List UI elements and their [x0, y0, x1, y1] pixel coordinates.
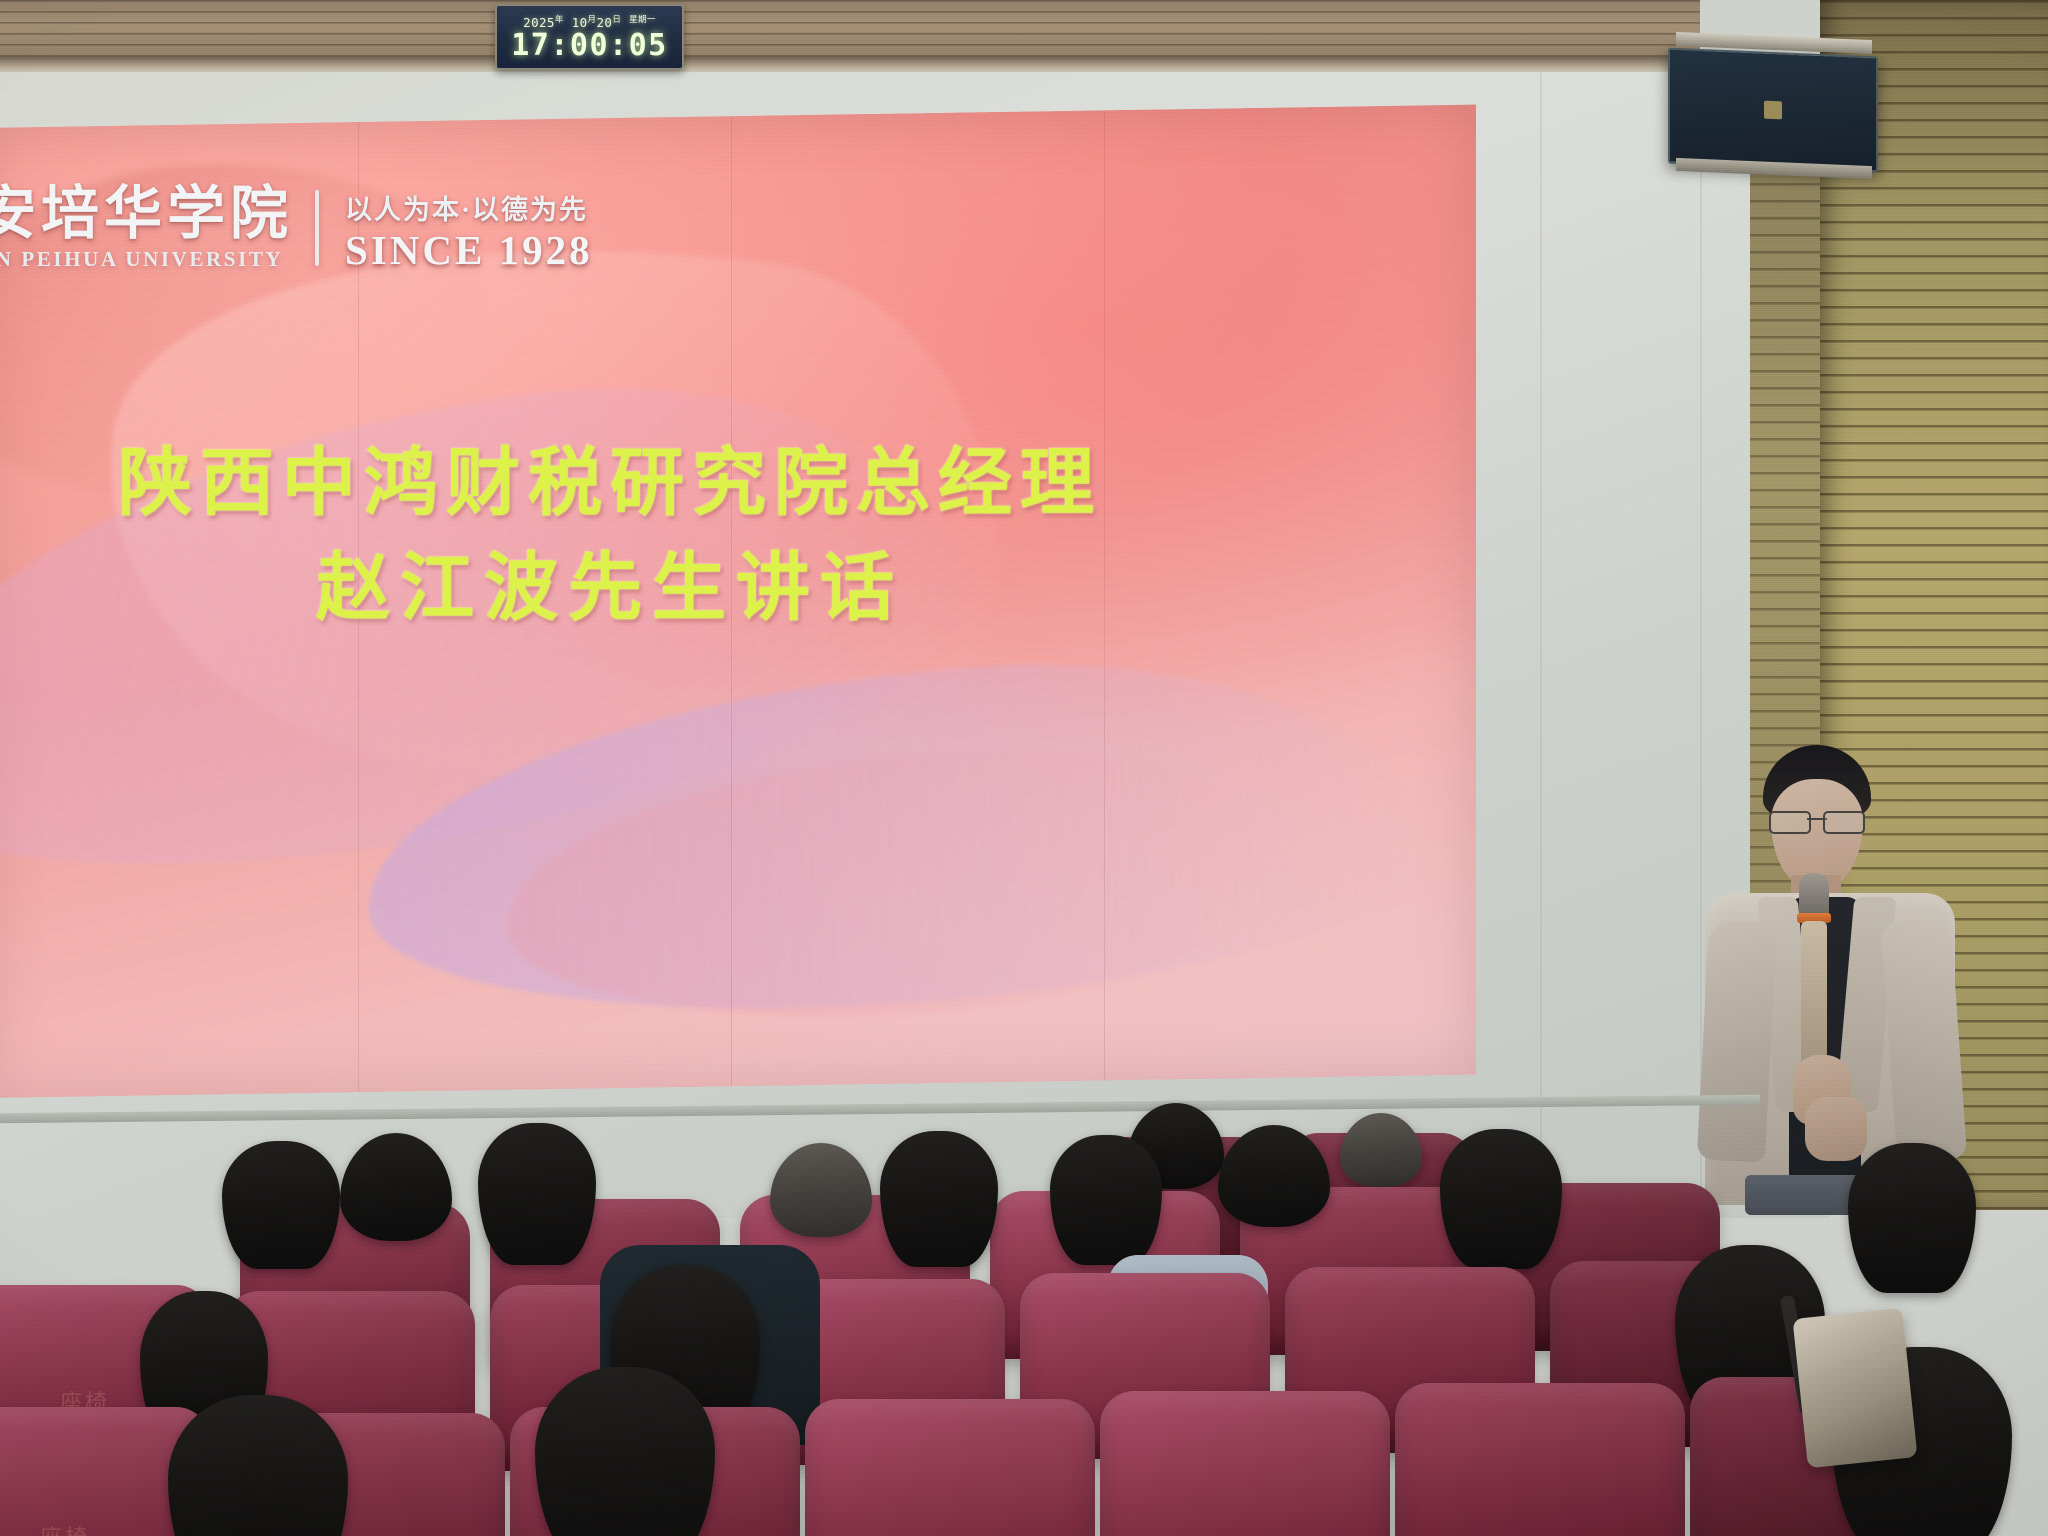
clock-weekday: 星期一 [629, 15, 656, 25]
clock-year-unit: 年 [555, 15, 564, 25]
slide-shape-4 [357, 634, 1435, 1044]
audience-head [1050, 1135, 1162, 1265]
audience-head [222, 1141, 340, 1269]
glasses-lens-right [1823, 811, 1865, 834]
microphone-icon [1799, 873, 1829, 917]
slide-headline-line-2: 赵江波先生讲话 [0, 535, 1220, 640]
seated-audience: 延 座椅 座椅 [0, 1095, 2048, 1536]
slide-headline: 陕西中鸿财税研究院总经理 赵江波先生讲话 [0, 430, 1220, 640]
audience-head [770, 1143, 872, 1237]
slide-headline-line-1: 陕西中鸿财税研究院总经理 [0, 430, 1220, 535]
logo-since: SINCE 1928 [345, 229, 593, 272]
digital-wall-clock: 2025年 10月20日 星期一 17:00:05 [495, 4, 684, 70]
logo-divider [315, 190, 319, 266]
audience-head [880, 1131, 998, 1267]
glasses-lens-left [1769, 811, 1811, 834]
logo-university-en: AN PEIHUA UNIVERSITY [0, 247, 293, 272]
speaker-badge-icon [1764, 101, 1782, 120]
audience-head [1440, 1129, 1562, 1269]
slide-university-logo: 安培华学院 AN PEIHUA UNIVERSITY 以人为本·以德为先 SIN… [0, 186, 593, 272]
audience-head [1848, 1143, 1976, 1293]
clock-time: 17:00:05 [511, 31, 668, 61]
wood-ceiling-beam [0, 0, 1700, 62]
tote-bag [1792, 1308, 1917, 1469]
clock-day-unit: 日 [612, 15, 621, 25]
glasses-icon [1769, 811, 1865, 831]
wall-seam [1540, 60, 1542, 1200]
audience-head [168, 1395, 348, 1536]
audience-head [478, 1123, 596, 1265]
logo-university-cn: 安培华学院 [0, 186, 293, 241]
wall-speaker-icon [1668, 48, 1878, 173]
logo-right-block: 以人为本·以德为先 SINCE 1928 [345, 188, 593, 272]
wall-seam [1700, 60, 1702, 1200]
audience-head [1340, 1113, 1422, 1187]
auditorium-photo-scene: 2025年 10月20日 星期一 17:00:05 安培华学院 AN PEIHU… [0, 0, 2048, 1536]
logo-left-block: 安培华学院 AN PEIHUA UNIVERSITY [0, 186, 293, 272]
seat [1100, 1391, 1390, 1536]
audience-head [340, 1133, 452, 1241]
seat [805, 1399, 1095, 1536]
seat-crest: 座椅 [40, 1520, 90, 1536]
logo-motto: 以人为本·以德为先 [345, 188, 593, 227]
ceiling-beam-shadow [0, 56, 1700, 72]
seat [1395, 1383, 1685, 1536]
audience-head [535, 1367, 715, 1536]
slide-shape-5 [502, 734, 1291, 1033]
